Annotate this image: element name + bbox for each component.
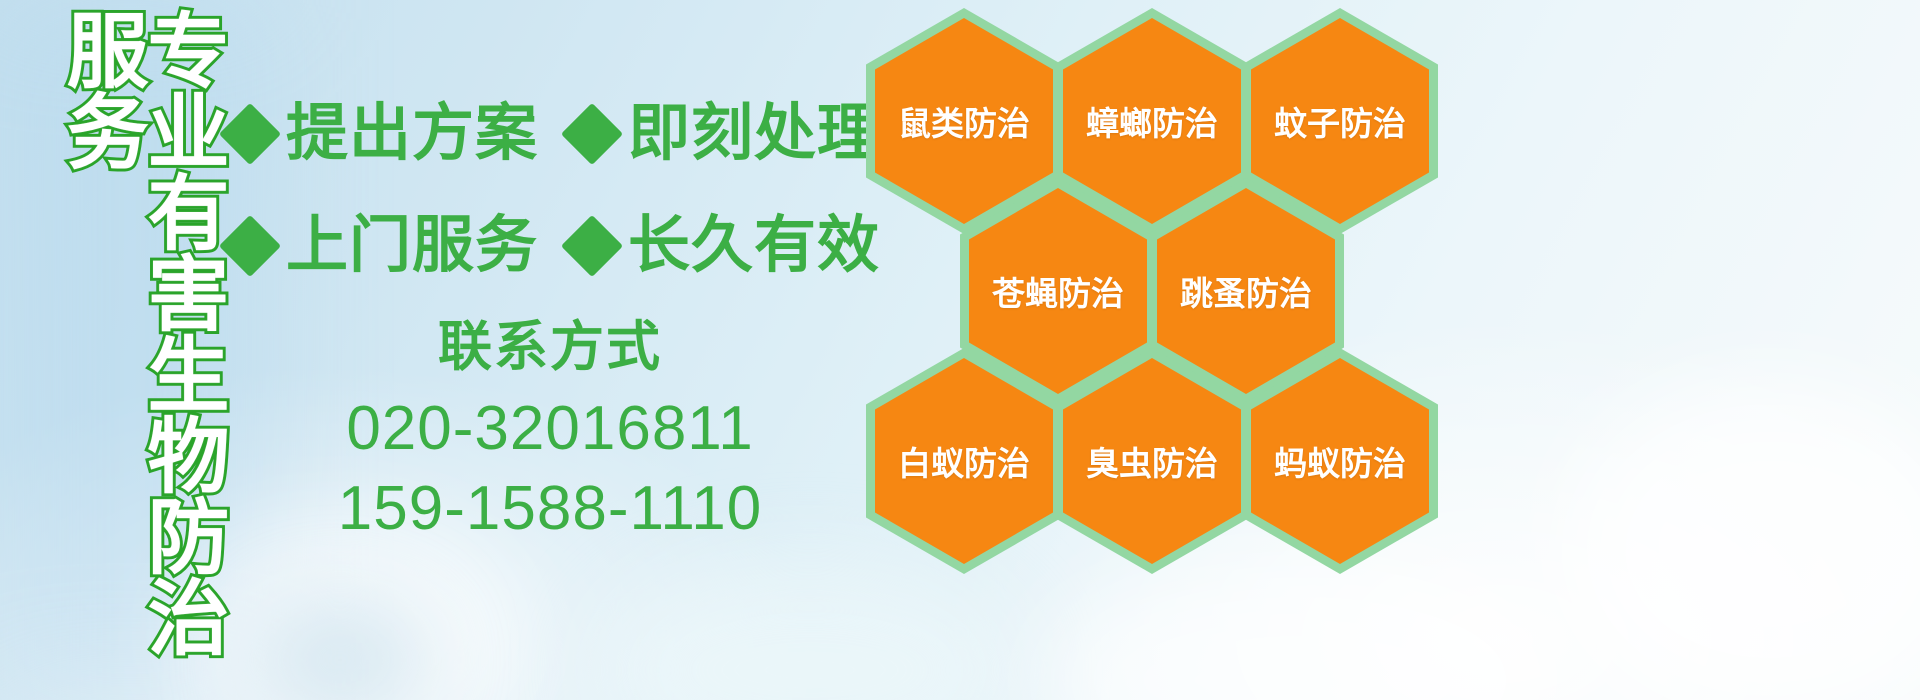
- feature-row-1: 提出方案 即刻处理: [228, 78, 868, 190]
- contact-block: 联系方式 020-32016811 159-1588-1110: [300, 318, 800, 548]
- contact-phone-landline[interactable]: 020-32016811: [300, 389, 800, 468]
- service-honeycomb-grid: 鼠类防治 蟑螂防治 蚊子防治 苍蝇防治 跳蚤防治 白蚁防治: [862, 0, 1462, 700]
- hex-label: 跳蚤防治: [1180, 267, 1312, 315]
- hex-label: 鼠类防治: [898, 97, 1030, 145]
- feature-item-propose-plan: 提出方案: [228, 103, 538, 165]
- hex-label: 蚊子防治: [1274, 97, 1406, 145]
- vertical-headline: 专业有害生物防治服务: [104, 8, 220, 698]
- feature-row-2: 上门服务 长久有效: [228, 190, 868, 302]
- hex-label: 白蚁防治: [898, 437, 1030, 485]
- feature-list: 提出方案 即刻处理 上门服务 长久有效: [228, 78, 868, 302]
- background-haze-4: [1560, 380, 1920, 700]
- diamond-bullet-icon: [561, 215, 623, 277]
- hex-label: 蚂蚁防治: [1274, 437, 1406, 485]
- diamond-bullet-icon: [219, 215, 281, 277]
- contact-title: 联系方式: [300, 318, 800, 377]
- feature-label: 即刻处理: [628, 103, 880, 165]
- diamond-bullet-icon: [219, 103, 281, 165]
- hex-cell-bedbug-control[interactable]: 臭虫防治: [1054, 348, 1250, 574]
- feature-label: 长久有效: [628, 215, 880, 277]
- feature-item-immediate-handling: 即刻处理: [570, 103, 880, 165]
- contact-phone-mobile[interactable]: 159-1588-1110: [300, 469, 800, 548]
- hex-label: 苍蝇防治: [992, 267, 1124, 315]
- hex-label: 臭虫防治: [1086, 437, 1218, 485]
- feature-item-door-to-door-service: 上门服务: [228, 215, 538, 277]
- hex-cell-termite-control[interactable]: 白蚁防治: [866, 348, 1062, 574]
- hex-cell-ant-control[interactable]: 蚂蚁防治: [1242, 348, 1438, 574]
- feature-label: 提出方案: [286, 103, 538, 165]
- feature-item-long-lasting-effect: 长久有效: [570, 215, 880, 277]
- pest-control-service-banner: 专业有害生物防治服务 提出方案 即刻处理 上门服务 长久有效 联系方式 0: [0, 0, 1920, 700]
- diamond-bullet-icon: [561, 103, 623, 165]
- feature-label: 上门服务: [286, 215, 538, 277]
- hex-label: 蟑螂防治: [1086, 97, 1218, 145]
- background-haze-6: [250, 600, 430, 700]
